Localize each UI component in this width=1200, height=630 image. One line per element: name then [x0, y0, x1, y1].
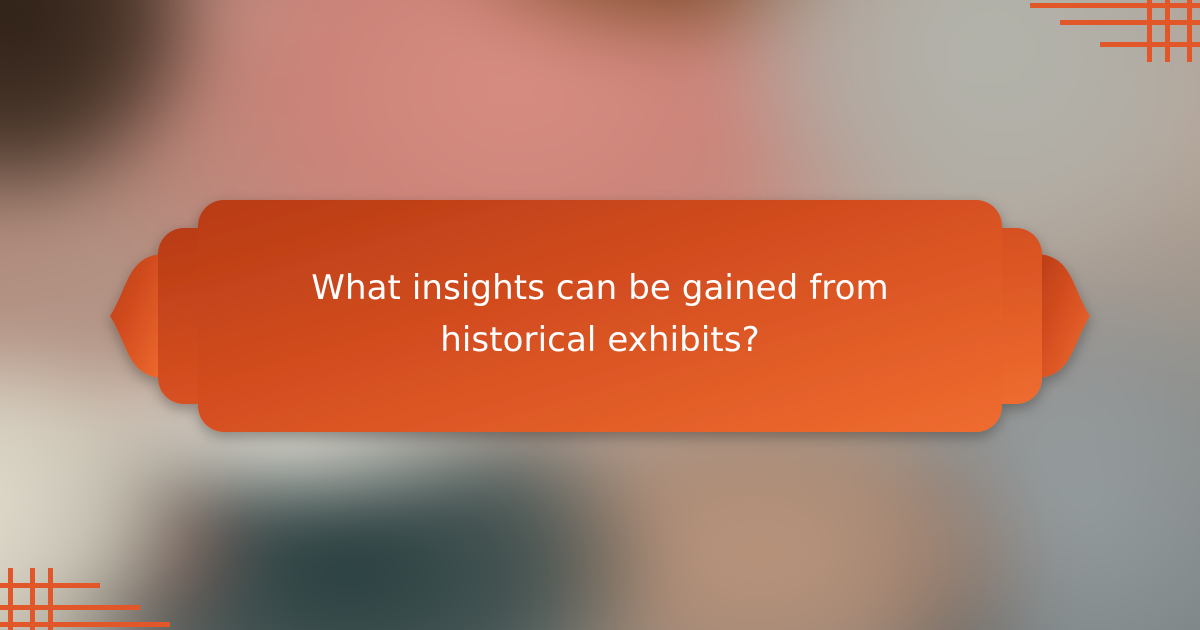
- bracket-line-v2: [30, 568, 35, 630]
- bracket-line-h1: [0, 622, 170, 627]
- question-card: What insights can be gained from histori…: [110, 192, 1090, 440]
- question-card-graphic: What insights can be gained from histori…: [0, 0, 1200, 630]
- bracket-line-v2: [1165, 0, 1170, 62]
- bracket-line-v3: [1187, 0, 1192, 62]
- corner-bracket-icon-top-right: [1030, 0, 1200, 62]
- question-text: What insights can be gained from histori…: [228, 192, 972, 440]
- corner-bracket-icon-bottom-left: [0, 568, 170, 630]
- bracket-line-v1: [48, 568, 53, 630]
- bracket-line-v1: [1147, 0, 1152, 62]
- bracket-line-v3: [8, 568, 13, 630]
- bracket-line-h2: [0, 605, 140, 610]
- bracket-line-h1: [1030, 3, 1200, 8]
- bracket-line-h2: [1060, 20, 1200, 25]
